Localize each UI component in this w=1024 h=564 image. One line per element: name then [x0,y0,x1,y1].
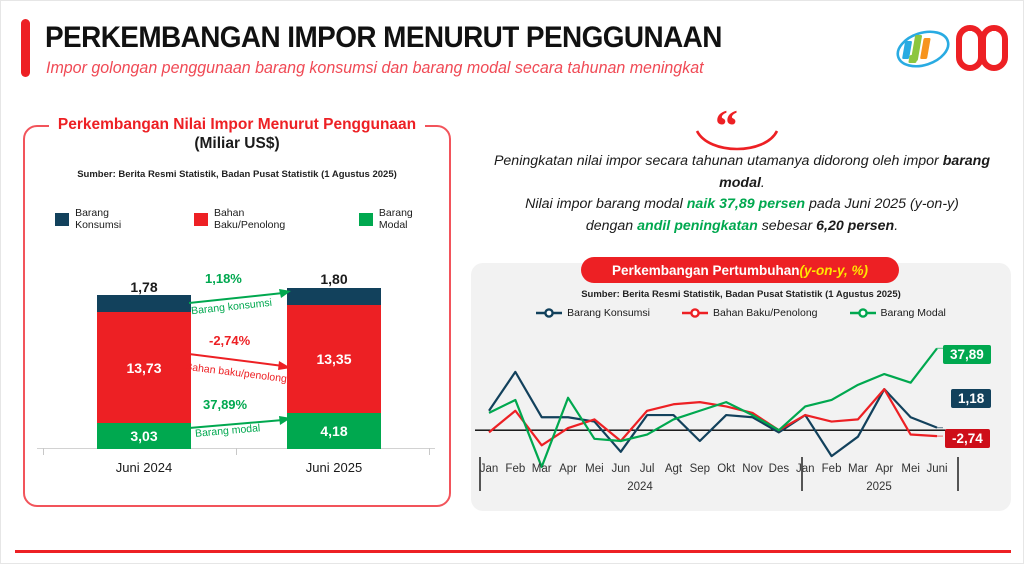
infographic-page: PERKEMBANGAN IMPOR MENURUT PENGGUNAAN Im… [0,0,1024,564]
legend-item-barang-konsumsi: Barang Konsumsi [55,207,144,231]
left-chart-source: Sumber: Berita Resmi Statistik, Badan Pu… [31,169,443,180]
growth-pct-bahanbaku: -2,74% [209,333,250,348]
legend2-item-bahan-baku: Bahan Baku/Penolong [682,307,818,319]
quote-line2-b: naik 37,89 persen [687,196,805,212]
quote-line1-c: . [761,175,765,191]
bar-value-bahanbaku-2024: 13,73 [126,360,161,376]
bar-column-juni-2024: 13,73 3,03 [97,295,191,449]
bar-value-modal-2025: 4,18 [320,423,347,439]
stacked-bar-chart: 1,78 13,73 3,03 Juni 2024 1,80 13,35 4,1… [37,257,435,477]
growth-pct-konsumsi: 1,18% [205,271,242,286]
bar-total-label-2025: 1,80 [287,271,381,287]
left-chart-title-main: Perkembangan Nilai Impor Menurut Penggun… [58,116,416,133]
bar-segment-konsumsi-2024 [97,295,191,312]
year-label-2024: 2024 [600,481,680,493]
legend2-item-barang-modal: Barang Modal [850,307,946,319]
end-label-barang-modal: 37,89 [943,345,991,364]
end-label-barang-konsumsi: 1,18 [951,389,991,408]
bar-segment-modal-2024: 3,03 [97,423,191,449]
quote-line2-a: Nilai impor barang modal [525,196,687,212]
legend2-item-barang-konsumsi: Barang Konsumsi [536,307,650,319]
page-subtitle: Impor golongan penggunaan barang konsums… [46,59,704,78]
quote-line3-a: dengan [586,218,637,234]
left-chart-legend: Barang Konsumsi Bahan Baku/Penolong Bara… [41,207,433,231]
legend-swatch-navy [55,213,69,226]
growth-pct-modal: 37,89% [203,397,247,412]
axis-tick-right [429,448,430,455]
legend2-label-bahan-baku: Bahan Baku/Penolong [713,307,818,319]
header-accent-bar [21,19,30,77]
legend-swatch-red [194,213,208,226]
end-label-bahan-baku: -2,74 [945,429,990,448]
bar-segment-bahanbaku-2025: 13,35 [287,305,381,413]
legend2-marker-red [682,307,708,319]
line-chart-xaxis: JanFebMarAprMeiJunJulAgtSepOktNovDesJanF… [471,457,1011,509]
legend-item-bahan-baku: Bahan Baku/Penolong [194,207,301,231]
bar-xlabel-2025: Juni 2025 [274,460,394,475]
quote-line3-e: . [894,218,898,234]
legend-label-barang-konsumsi: Barang Konsumsi [75,207,144,231]
bar-xlabel-2024: Juni 2024 [84,460,204,475]
quote-line2-c: pada Juni 2025 (y-on-y) [805,196,959,212]
page-header: PERKEMBANGAN IMPOR MENURUT PENGGUNAAN Im… [13,9,1013,89]
pill-label-main: Perkembangan Pertumbuhan [612,263,800,278]
quote-line3-d: 6,20 persen [816,218,894,234]
bar-segment-konsumsi-2025 [287,288,381,305]
footer-rule [15,550,1011,553]
right-chart-legend: Barang Konsumsi Bahan Baku/Penolong Bara… [471,307,1011,319]
bar-total-label-2024: 1,78 [97,279,191,295]
left-chart-title: Perkembangan Nilai Impor Menurut Penggun… [49,115,425,154]
growth-chart-title-pill: Perkembangan Pertumbuhan (y-on-y, %) [581,257,899,283]
axis-rule-right [957,457,959,491]
right-chart-source: Sumber: Berita Resmi Statistik, Badan Pu… [471,289,1011,300]
quote-line3-b: andil peningkatan [637,218,758,234]
bar-column-juni-2025: 13,35 4,18 [287,288,381,449]
page-title: PERKEMBANGAN IMPOR MENURUT PENGGUNAAN [45,21,722,55]
legend2-marker-green [850,307,876,319]
legend2-marker-navy [536,307,562,319]
legend2-label-barang-modal: Barang Modal [881,307,946,319]
pill-label-yoy: (y-on-y, %) [800,263,869,278]
axis-tick-left [43,448,44,455]
legend-label-barang-modal: Barang Modal [379,207,433,231]
legend2-label-barang-konsumsi: Barang Konsumsi [567,307,650,319]
year-label-2025: 2025 [839,481,919,493]
anniversary-80-logo [955,23,1009,73]
axis-tick-mid [236,448,237,455]
legend-item-barang-modal: Barang Modal [359,207,433,231]
bar-segment-modal-2025: 4,18 [287,413,381,449]
left-chart-title-units: (Miliar US$) [194,135,279,152]
month-label: Juni [921,463,953,475]
legend-label-bahan-baku: Bahan Baku/Penolong [214,207,301,231]
bps-logo [895,25,951,73]
bar-value-bahanbaku-2025: 13,35 [316,351,351,367]
bar-value-modal-2024: 3,03 [130,428,157,444]
legend-swatch-green [359,213,373,226]
quote-line3-c: sebesar [758,218,816,234]
bar-segment-bahanbaku-2024: 13,73 [97,312,191,423]
quote-line1-a: Peningkatan nilai impor secara tahunan u… [494,153,943,169]
quote-text: Peningkatan nilai impor secara tahunan u… [477,151,1007,237]
